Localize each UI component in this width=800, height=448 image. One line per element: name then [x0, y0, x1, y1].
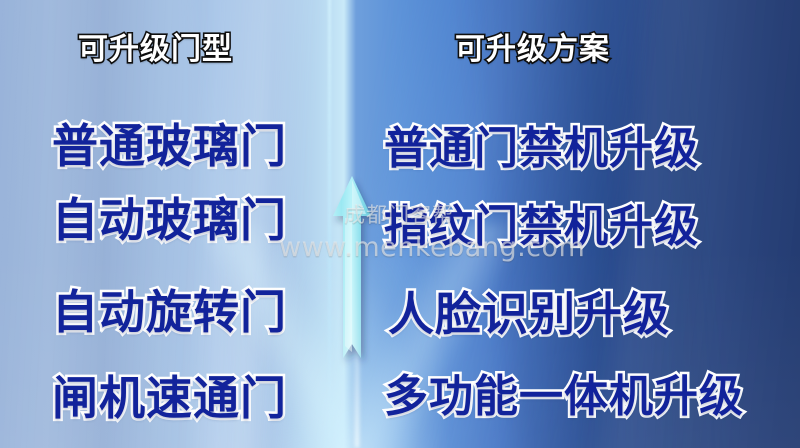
up-arrow-icon: [330, 176, 374, 368]
list-item: 闸机速通门: [52, 362, 287, 428]
column-heading-upgrade-plans: 可升级方案: [455, 24, 610, 68]
column-heading-door-types: 可升级门型: [78, 24, 233, 68]
list-item: 指纹门禁机升级: [384, 190, 699, 254]
list-item: 普通玻璃门: [52, 110, 287, 176]
list-item: 人脸识别升级: [388, 278, 670, 344]
list-item: 普通门禁机升级: [384, 112, 699, 176]
list-item: 多功能一体机升级: [384, 360, 744, 424]
list-item: 自动旋转门: [52, 276, 287, 342]
list-item: 自动玻璃门: [52, 184, 287, 250]
poster-canvas: 可升级门型 可升级方案 普通玻璃门 自动玻璃门 自动旋转门 闸机速通门 普通门禁…: [0, 0, 800, 448]
